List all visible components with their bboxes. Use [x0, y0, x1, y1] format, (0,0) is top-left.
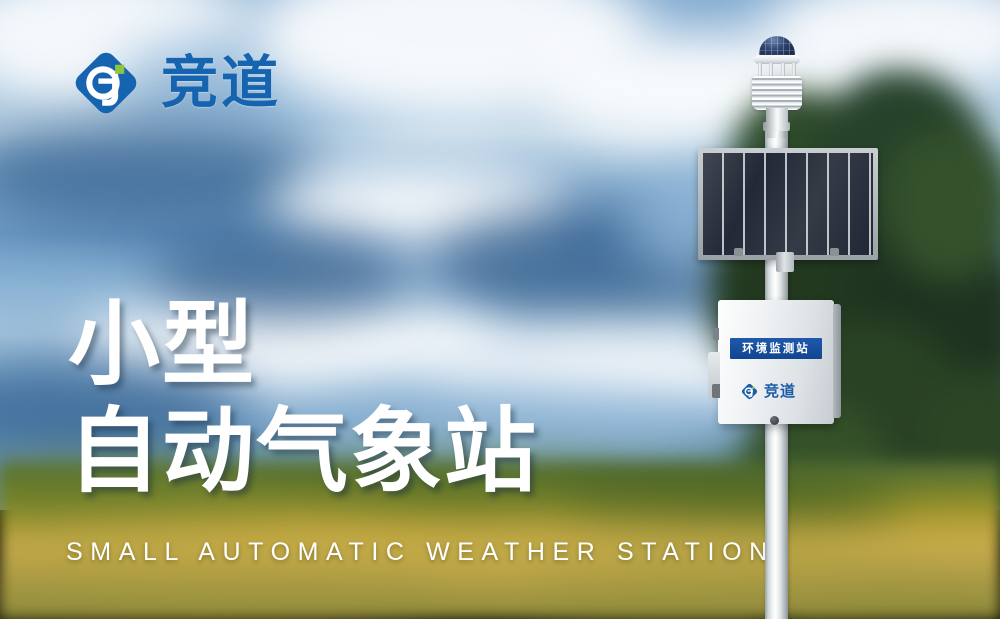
brand-name-text: 竞道 — [161, 55, 281, 112]
control-box-side-panel — [833, 304, 841, 418]
control-box-label-band: 环境监测站 — [730, 338, 822, 359]
control-box-lower-latch — [712, 384, 720, 398]
headline-line-1: 小型 — [68, 300, 688, 390]
control-box-brand-text: 竞道 — [764, 384, 796, 399]
radiation-shield — [752, 76, 802, 110]
panel-bolt-left — [734, 248, 743, 256]
product-banner: 竞道 小型 自动气象站 SMALL AUTOMATIC WEATHER STAT… — [0, 0, 1000, 619]
sensor-neck — [766, 108, 788, 130]
control-box-bottom-bolt — [770, 416, 779, 425]
headline-block: 小型 自动气象站 — [68, 300, 688, 498]
control-box-brand-logo: 竞道 — [740, 380, 814, 402]
headline-line-2: 自动气象站 — [68, 406, 688, 498]
ultrasonic-weather-sensor — [746, 36, 808, 132]
panel-bolt-right — [830, 248, 839, 256]
solar-panel-cells — [703, 153, 873, 255]
brand-logo[interactable]: 竞道 — [68, 45, 281, 121]
panel-mount-bracket — [776, 252, 794, 272]
jingdao-diamond-logo-icon-small — [740, 382, 759, 401]
jingdao-diamond-logo-icon — [68, 45, 144, 121]
environment-monitoring-control-box[interactable]: 环境监测站 竞道 — [718, 300, 834, 424]
subtitle-english: SMALL AUTOMATIC WEATHER STATION — [66, 538, 775, 567]
weather-station-device: 环境监测站 竞道 — [690, 30, 890, 619]
solar-panel-frame — [698, 148, 878, 260]
control-box-upper-latch — [713, 328, 719, 340]
solar-panel-assembly — [698, 148, 878, 266]
control-box-label-text: 环境监测站 — [742, 343, 810, 355]
